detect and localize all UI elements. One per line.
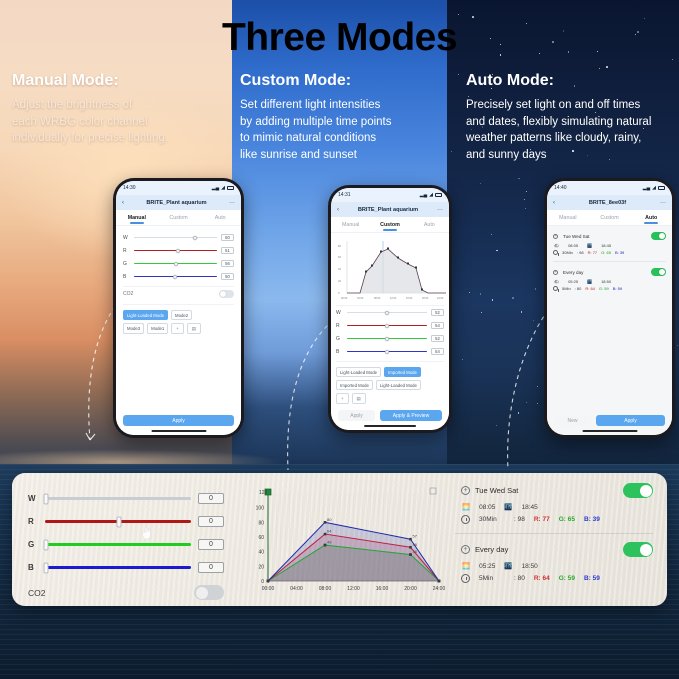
panel-slider-row-b[interactable]: B 0 <box>28 556 224 579</box>
slider-value-b: 54 <box>431 348 444 355</box>
add-mode-icon[interactable]: + <box>336 393 349 404</box>
slider-label-g: G <box>336 336 343 342</box>
panel-schedule-toggle[interactable] <box>623 542 653 557</box>
panel-schedule-sunset-time: 18:45 <box>521 504 537 511</box>
tab-custom[interactable]: Custom <box>589 215 631 221</box>
svg-text:08:00: 08:00 <box>374 297 381 300</box>
panel-slider-label-r: R <box>28 517 38 526</box>
battery-icon <box>658 186 665 190</box>
slider-track-b[interactable] <box>134 276 217 278</box>
light-curve-chart[interactable]: 12002040608010000:0004:0008:0012:0016:00… <box>246 481 446 599</box>
slider-row-r[interactable]: R 51 <box>123 244 234 257</box>
manual-mode-heading: Manual Mode: <box>12 72 227 90</box>
svg-text:20:00: 20:00 <box>422 297 429 300</box>
slider-track-w[interactable] <box>134 237 217 239</box>
svg-text:0: 0 <box>261 579 264 585</box>
slider-track-w[interactable] <box>347 312 427 314</box>
schedule-toggle[interactable] <box>651 232 666 240</box>
sunset-icon: 🌃 <box>504 562 512 570</box>
manual-controls: W 50 R 51 G 56 B 50 CO2 <box>116 226 241 435</box>
panel-co2-toggle[interactable] <box>194 585 224 600</box>
delete-mode-icon[interactable]: ▤ <box>352 393 366 404</box>
panel-slider-track-w[interactable] <box>45 497 191 500</box>
slider-row-b[interactable]: B 50 <box>123 270 234 283</box>
panel-chart: 12002040608010000:0004:0008:0012:0016:00… <box>240 473 445 606</box>
mode-presets: Light-Loaded Mode Imported Mode Imported… <box>336 361 444 404</box>
custom-curve-chart[interactable]: 02040 6080 00:0004:0008:00 12:0016:0020:… <box>336 236 444 306</box>
panel-slider-track-r[interactable] <box>45 520 191 523</box>
wifi-icon: ◢ <box>429 192 433 198</box>
plus-circle-icon[interactable]: + <box>461 486 470 495</box>
schedule-item[interactable]: + Every day 🌤 05:25 🌃 18:50 5Min : 80 R:… <box>553 268 666 291</box>
custom-controls: 02040 6080 00:0004:0008:00 12:0016:0020:… <box>331 233 449 430</box>
svg-text:60: 60 <box>258 535 264 541</box>
panel-schedules: + Tue Wed Sat 🌅 08:05 🌃 18:45 30Min : 98… <box>445 473 667 606</box>
schedule-w: : 80 <box>575 286 582 291</box>
schedule-divider <box>553 261 666 262</box>
sunrise-icon: 🌤 <box>554 243 559 248</box>
slider-knob-b[interactable] <box>385 350 389 354</box>
panel-schedule-name: Tue Wed Sat <box>475 486 518 495</box>
svg-text:57: 57 <box>413 534 418 539</box>
slider-label-w: W <box>123 235 130 241</box>
phone-manual-mode: 14:30 ▂▄ ◢ ‹ BRITE_Plant aquarium ··· Ma… <box>113 178 244 438</box>
slider-value-r: 51 <box>221 247 234 254</box>
panel-slider-knob-r[interactable] <box>117 516 122 527</box>
panel-manual-sliders: W 0 R 0 G 0 B 0 CO2 <box>12 473 240 606</box>
panel-schedule-b: B: 39 <box>584 516 600 523</box>
panel-schedule-sunrise-time: 05:25 <box>479 563 495 570</box>
plus-circle-icon[interactable]: + <box>553 270 558 275</box>
custom-mode-line-2: by adding multiple time points <box>240 114 450 131</box>
slider-track-r[interactable] <box>347 325 427 327</box>
auto-mode-heading: Auto Mode: <box>466 72 678 90</box>
plus-circle-icon[interactable]: + <box>461 545 470 554</box>
svg-text:40: 40 <box>338 267 341 271</box>
panel-slider-label-g: G <box>28 540 38 549</box>
custom-mode-column: Custom Mode: Set different light intensi… <box>240 72 450 163</box>
phone-footer: New Apply <box>547 415 672 426</box>
svg-text:80: 80 <box>327 517 332 522</box>
slider-row-r[interactable]: R 54 <box>336 319 444 332</box>
chip-mode3[interactable]: Mode3 <box>123 323 144 334</box>
slider-label-g: G <box>123 261 130 267</box>
slider-row-w[interactable]: W 50 <box>123 231 234 244</box>
mode-tabs: Manual Custom Auto <box>331 217 449 233</box>
chip-light-loaded-mode[interactable]: Light-Loaded Mode <box>336 367 381 377</box>
panel-slider-value-b: 0 <box>198 562 224 573</box>
sunrise-icon: 🌅 <box>462 562 470 570</box>
status-bar: 14:40 ▂▄ ◢ <box>547 181 672 195</box>
signal-icon: ▂▄ <box>420 192 427 198</box>
slider-row-g[interactable]: G 52 <box>336 332 444 345</box>
device-title: BRITE_Plant aquarium <box>124 200 229 206</box>
clock-icon <box>461 515 470 524</box>
device-title: BRITE_8ee03f <box>555 200 660 206</box>
svg-text:80: 80 <box>258 520 264 526</box>
slider-track-g[interactable] <box>347 338 427 340</box>
schedule-name: Every day <box>563 270 583 275</box>
panel-schedule-g: G: 65 <box>559 516 575 523</box>
slider-value-w: 50 <box>221 234 234 241</box>
slider-label-w: W <box>336 310 343 316</box>
panel-co2-row: CO2 <box>28 585 224 600</box>
slider-knob-w[interactable] <box>193 236 197 240</box>
clock-icon <box>553 250 558 255</box>
panel-slider-track-g[interactable] <box>45 543 191 546</box>
add-mode-icon[interactable]: + <box>171 323 184 334</box>
slider-row-g[interactable]: G 56 <box>123 257 234 270</box>
co2-toggle[interactable] <box>219 290 234 298</box>
slider-label-r: R <box>336 323 343 329</box>
panel-slider-row-g[interactable]: G 0 <box>28 533 224 556</box>
panel-schedule-item[interactable]: + Every day 🌅 05:25 🌃 18:50 5Min : 80 R:… <box>455 542 653 583</box>
auto-mode-column: Auto Mode: Precisely set light on and of… <box>466 72 678 163</box>
svg-text:0: 0 <box>338 291 340 295</box>
svg-text:16:00: 16:00 <box>406 297 413 300</box>
schedule-sunset-time: 18:50 <box>601 279 611 284</box>
status-time: 14:30 <box>123 185 136 191</box>
panel-slider-value-g: 0 <box>198 539 224 550</box>
slider-label-b: B <box>336 349 343 355</box>
svg-text:64: 64 <box>327 529 332 534</box>
panel-schedule-g: G: 59 <box>559 575 575 582</box>
status-time: 14:31 <box>338 192 351 198</box>
schedule-sunset-time: 18:45 <box>601 243 611 248</box>
chip-mode2[interactable]: Mode2 <box>171 310 192 320</box>
more-icon[interactable]: ··· <box>660 200 666 206</box>
hand-cursor-icon <box>141 526 152 540</box>
panel-slider-row-r[interactable]: R 0 <box>28 510 224 533</box>
chip-imported-mode[interactable]: Imported Mode <box>336 380 373 390</box>
svg-text:24:00: 24:00 <box>433 586 446 592</box>
schedule-b: B: 39 <box>615 250 624 255</box>
panel-schedule-toggle[interactable] <box>623 483 653 498</box>
svg-text:40: 40 <box>258 550 264 556</box>
svg-text:49: 49 <box>327 540 332 545</box>
more-icon[interactable]: ··· <box>229 200 235 206</box>
tab-auto[interactable]: Auto <box>410 222 449 228</box>
nav-bar: ‹ BRITE_Plant aquarium ··· <box>331 202 449 217</box>
panel-schedule-duration: 30Min <box>479 516 505 523</box>
custom-mode-line-3: to mimic natural conditions <box>240 130 450 147</box>
svg-text:16:00: 16:00 <box>376 586 389 592</box>
schedule-sunrise-time: 08:05 <box>568 243 578 248</box>
svg-text:00:00: 00:00 <box>262 586 275 592</box>
slider-row-b[interactable]: B 54 <box>336 345 444 358</box>
svg-text:00:00: 00:00 <box>341 297 348 300</box>
co2-label: CO2 <box>123 291 133 297</box>
svg-text:24:00: 24:00 <box>437 297 444 300</box>
schedule-r: R: 77 <box>588 250 598 255</box>
schedule-duration: 30Min <box>562 250 573 255</box>
schedule-b: B: 59 <box>613 286 622 291</box>
manual-mode-line-2: each WRBG color channel <box>12 114 227 131</box>
home-indicator <box>364 425 416 427</box>
nav-bar: ‹ BRITE_8ee03f ··· <box>547 195 672 210</box>
custom-mode-heading: Custom Mode: <box>240 72 450 90</box>
panel-slider-knob-b[interactable] <box>44 562 49 573</box>
svg-text:04:00: 04:00 <box>290 586 303 592</box>
tab-manual[interactable]: Manual <box>331 222 370 228</box>
tab-manual[interactable]: Manual <box>547 215 589 221</box>
panel-slider-value-w: 0 <box>198 493 224 504</box>
home-indicator <box>151 430 206 432</box>
phone-custom-mode: 14:31 ▂▄ ◢ ‹ BRITE_Plant aquarium ··· Ma… <box>328 185 452 433</box>
manual-mode-line-1: Adjust the brightness of <box>12 97 227 114</box>
schedule-w: : 98 <box>577 250 584 255</box>
slider-value-g: 56 <box>221 260 234 267</box>
wifi-icon: ◢ <box>221 185 225 191</box>
slider-value-b: 50 <box>221 273 234 280</box>
schedule-item[interactable]: + Tue Wed Sat 🌤 08:05 🌃 18:45 30Min : 98… <box>553 232 666 255</box>
svg-text:20:00: 20:00 <box>404 586 417 592</box>
schedule-g: G: 59 <box>599 286 609 291</box>
panel-schedule-w: : 98 <box>514 516 525 523</box>
svg-text:20: 20 <box>338 279 341 283</box>
phone-footer: Apply Apply & Preview <box>331 410 449 421</box>
slider-knob-b[interactable] <box>173 275 177 279</box>
manual-mode-line-3: individually for precise lighting. <box>12 130 227 147</box>
schedule-sunrise-time: 05:25 <box>568 279 578 284</box>
slider-label-r: R <box>123 248 130 254</box>
chip-light-loaded-mode[interactable]: Light-Loaded Mode <box>123 310 168 320</box>
svg-text:80: 80 <box>338 244 341 248</box>
device-title: BRITE_Plant aquarium <box>339 207 437 213</box>
sunset-icon: 🌃 <box>587 279 592 284</box>
manual-mode-column: Manual Mode: Adjust the brightness of ea… <box>12 72 227 147</box>
slider-track-r[interactable] <box>134 250 217 252</box>
slider-value-g: 52 <box>431 335 444 342</box>
home-indicator <box>582 430 637 432</box>
new-button[interactable]: New <box>554 415 591 426</box>
slider-value-w: 52 <box>431 309 444 316</box>
slider-knob-g[interactable] <box>385 337 389 341</box>
auto-mode-line-1: Precisely set light on and off times <box>466 97 678 114</box>
svg-text:36: 36 <box>413 549 418 554</box>
svg-text:60: 60 <box>338 255 341 259</box>
chip-imported-mode-selected[interactable]: Imported Mode <box>384 367 421 377</box>
wifi-icon: ◢ <box>652 185 656 191</box>
tab-auto[interactable]: Auto <box>630 215 672 221</box>
battery-icon <box>435 193 442 197</box>
detail-panel: W 0 R 0 G 0 B 0 CO2 12002040 <box>12 473 667 606</box>
svg-text:08:00: 08:00 <box>319 586 332 592</box>
schedule-r: R: 64 <box>585 286 595 291</box>
status-time: 14:40 <box>554 185 567 191</box>
tab-auto[interactable]: Auto <box>199 215 241 221</box>
slider-knob-w[interactable] <box>385 311 389 315</box>
svg-text:46: 46 <box>413 542 418 547</box>
phone-auto-mode: 14:40 ▂▄ ◢ ‹ BRITE_8ee03f ··· Manual Cus… <box>544 178 675 438</box>
slider-track-b[interactable] <box>347 351 427 353</box>
panel-slider-label-b: B <box>28 563 38 572</box>
panel-slider-knob-g[interactable] <box>44 539 49 550</box>
panel-schedule-duration: 5Min <box>479 575 505 582</box>
svg-text:12:00: 12:00 <box>347 586 360 592</box>
nav-bar: ‹ BRITE_Plant aquarium ··· <box>116 195 241 210</box>
sunrise-icon: 🌤 <box>554 279 559 284</box>
tab-manual[interactable]: Manual <box>116 215 158 221</box>
status-bar: 14:30 ▂▄ ◢ <box>116 181 241 195</box>
slider-label-b: B <box>123 274 130 280</box>
delete-mode-icon[interactable]: ▤ <box>187 323 201 334</box>
apply-button[interactable]: Apply <box>596 415 665 426</box>
tab-custom[interactable]: Custom <box>370 222 409 228</box>
slider-value-r: 54 <box>431 322 444 329</box>
panel-schedule-r: R: 77 <box>534 516 550 523</box>
auto-mode-line-2: and dates, flexibly simulating natural <box>466 114 678 131</box>
chip-light-loaded-mode-2[interactable]: Light-Loaded Mode <box>376 380 421 390</box>
panel-slider-value-r: 0 <box>198 516 224 527</box>
panel-schedule-w: : 80 <box>514 575 525 582</box>
panel-slider-row-w[interactable]: W 0 <box>28 487 224 510</box>
custom-mode-line-1: Set different light intensities <box>240 97 450 114</box>
svg-text:04:00: 04:00 <box>357 297 364 300</box>
sunrise-icon: 🌅 <box>462 503 470 511</box>
slider-knob-r[interactable] <box>176 249 180 253</box>
panel-schedule-sunrise-time: 08:05 <box>479 504 495 511</box>
signal-icon: ▂▄ <box>643 185 650 191</box>
panel-schedule-item[interactable]: + Tue Wed Sat 🌅 08:05 🌃 18:45 30Min : 98… <box>455 483 653 524</box>
schedule-g: G: 65 <box>601 250 611 255</box>
slider-track-g[interactable] <box>134 263 217 265</box>
clock-icon <box>461 574 470 583</box>
chip-mode1[interactable]: Mode1 <box>147 323 168 334</box>
plus-circle-icon[interactable]: + <box>553 234 558 239</box>
panel-co2-label: CO2 <box>28 588 45 598</box>
panel-slider-track-b[interactable] <box>45 566 191 569</box>
panel-slider-label-w: W <box>28 494 38 503</box>
mode-tabs: Manual Custom Auto <box>547 210 672 226</box>
sunset-icon: 🌃 <box>587 243 592 248</box>
slider-knob-r[interactable] <box>385 324 389 328</box>
phone-footer: Apply <box>116 415 241 426</box>
svg-text:12:00: 12:00 <box>390 297 397 300</box>
auto-schedule-list: + Tue Wed Sat 🌤 08:05 🌃 18:45 30Min : 98… <box>547 226 672 435</box>
status-bar: 14:31 ▂▄ ◢ <box>331 188 449 202</box>
panel-schedule-r: R: 64 <box>534 575 550 582</box>
clock-icon <box>553 286 558 291</box>
panel-schedule-divider <box>455 533 653 534</box>
apply-button[interactable]: Apply <box>338 410 375 421</box>
svg-text:120: 120 <box>259 490 268 496</box>
mode-presets: Light-Loaded Mode Mode2 Mode3 Mode1 + ▤ <box>123 304 234 334</box>
panel-schedule-b: B: 59 <box>584 575 600 582</box>
sunset-icon: 🌃 <box>504 503 512 511</box>
battery-icon <box>227 186 234 190</box>
signal-icon: ▂▄ <box>212 185 219 191</box>
tab-custom[interactable]: Custom <box>158 215 200 221</box>
svg-text:100: 100 <box>256 506 265 512</box>
auto-mode-line-3: weather patterns like cloudy, rainy, <box>466 130 678 147</box>
panel-slider-knob-w[interactable] <box>44 493 49 504</box>
schedule-name: Tue Wed Sat <box>563 234 590 239</box>
mode-tabs: Manual Custom Auto <box>116 210 241 226</box>
panel-schedule-sunset-time: 18:50 <box>521 563 537 570</box>
schedule-toggle[interactable] <box>651 268 666 276</box>
panel-schedule-name: Every day <box>475 545 508 554</box>
schedule-duration: 5Min <box>562 286 571 291</box>
co2-row: CO2 <box>123 286 234 301</box>
apply-button[interactable]: Apply <box>123 415 234 426</box>
svg-text:20: 20 <box>258 564 264 570</box>
more-icon[interactable]: ··· <box>437 207 443 213</box>
apply-preview-button[interactable]: Apply & Preview <box>380 410 442 421</box>
auto-mode-line-4: and sunny days <box>466 147 678 164</box>
slider-knob-g[interactable] <box>174 262 178 266</box>
custom-mode-line-4: like sunrise and sunset <box>240 147 450 164</box>
custom-curve-svg: 02040 6080 00:0004:0008:00 12:0016:0020:… <box>336 238 448 304</box>
page-title: Three Modes <box>0 16 679 60</box>
